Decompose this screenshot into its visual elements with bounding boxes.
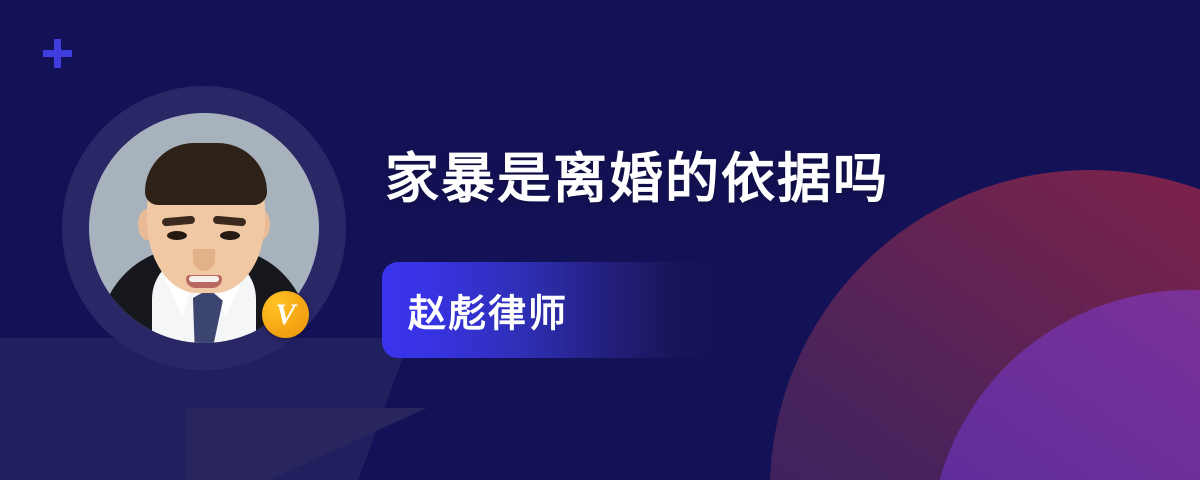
portrait-mouth [186, 275, 222, 288]
verified-badge-glyph: V [262, 291, 309, 338]
portrait-hair [145, 143, 267, 205]
portrait-eye-left [167, 231, 187, 240]
verified-badge-icon: V [262, 291, 309, 338]
avatar[interactable]: V [62, 86, 346, 370]
plus-icon [43, 39, 72, 68]
decor-inner-arc [930, 290, 1200, 480]
decor-mid-wedge [186, 408, 426, 480]
lawyer-name-badge: 赵彪律师 [382, 262, 715, 358]
plus-icon-bar-vertical [54, 39, 61, 68]
decor-outer-arc [770, 170, 1200, 480]
portrait-nose [193, 249, 215, 271]
video-cover-canvas: V 家暴是离婚的依据吗 赵彪律师 [0, 0, 1200, 480]
portrait-teeth [189, 276, 219, 282]
plus-icon-bar-horizontal [43, 50, 72, 57]
lawyer-name-label: 赵彪律师 [408, 283, 568, 338]
portrait-eye-right [220, 231, 240, 240]
page-title: 家暴是离婚的依据吗 [385, 152, 889, 206]
